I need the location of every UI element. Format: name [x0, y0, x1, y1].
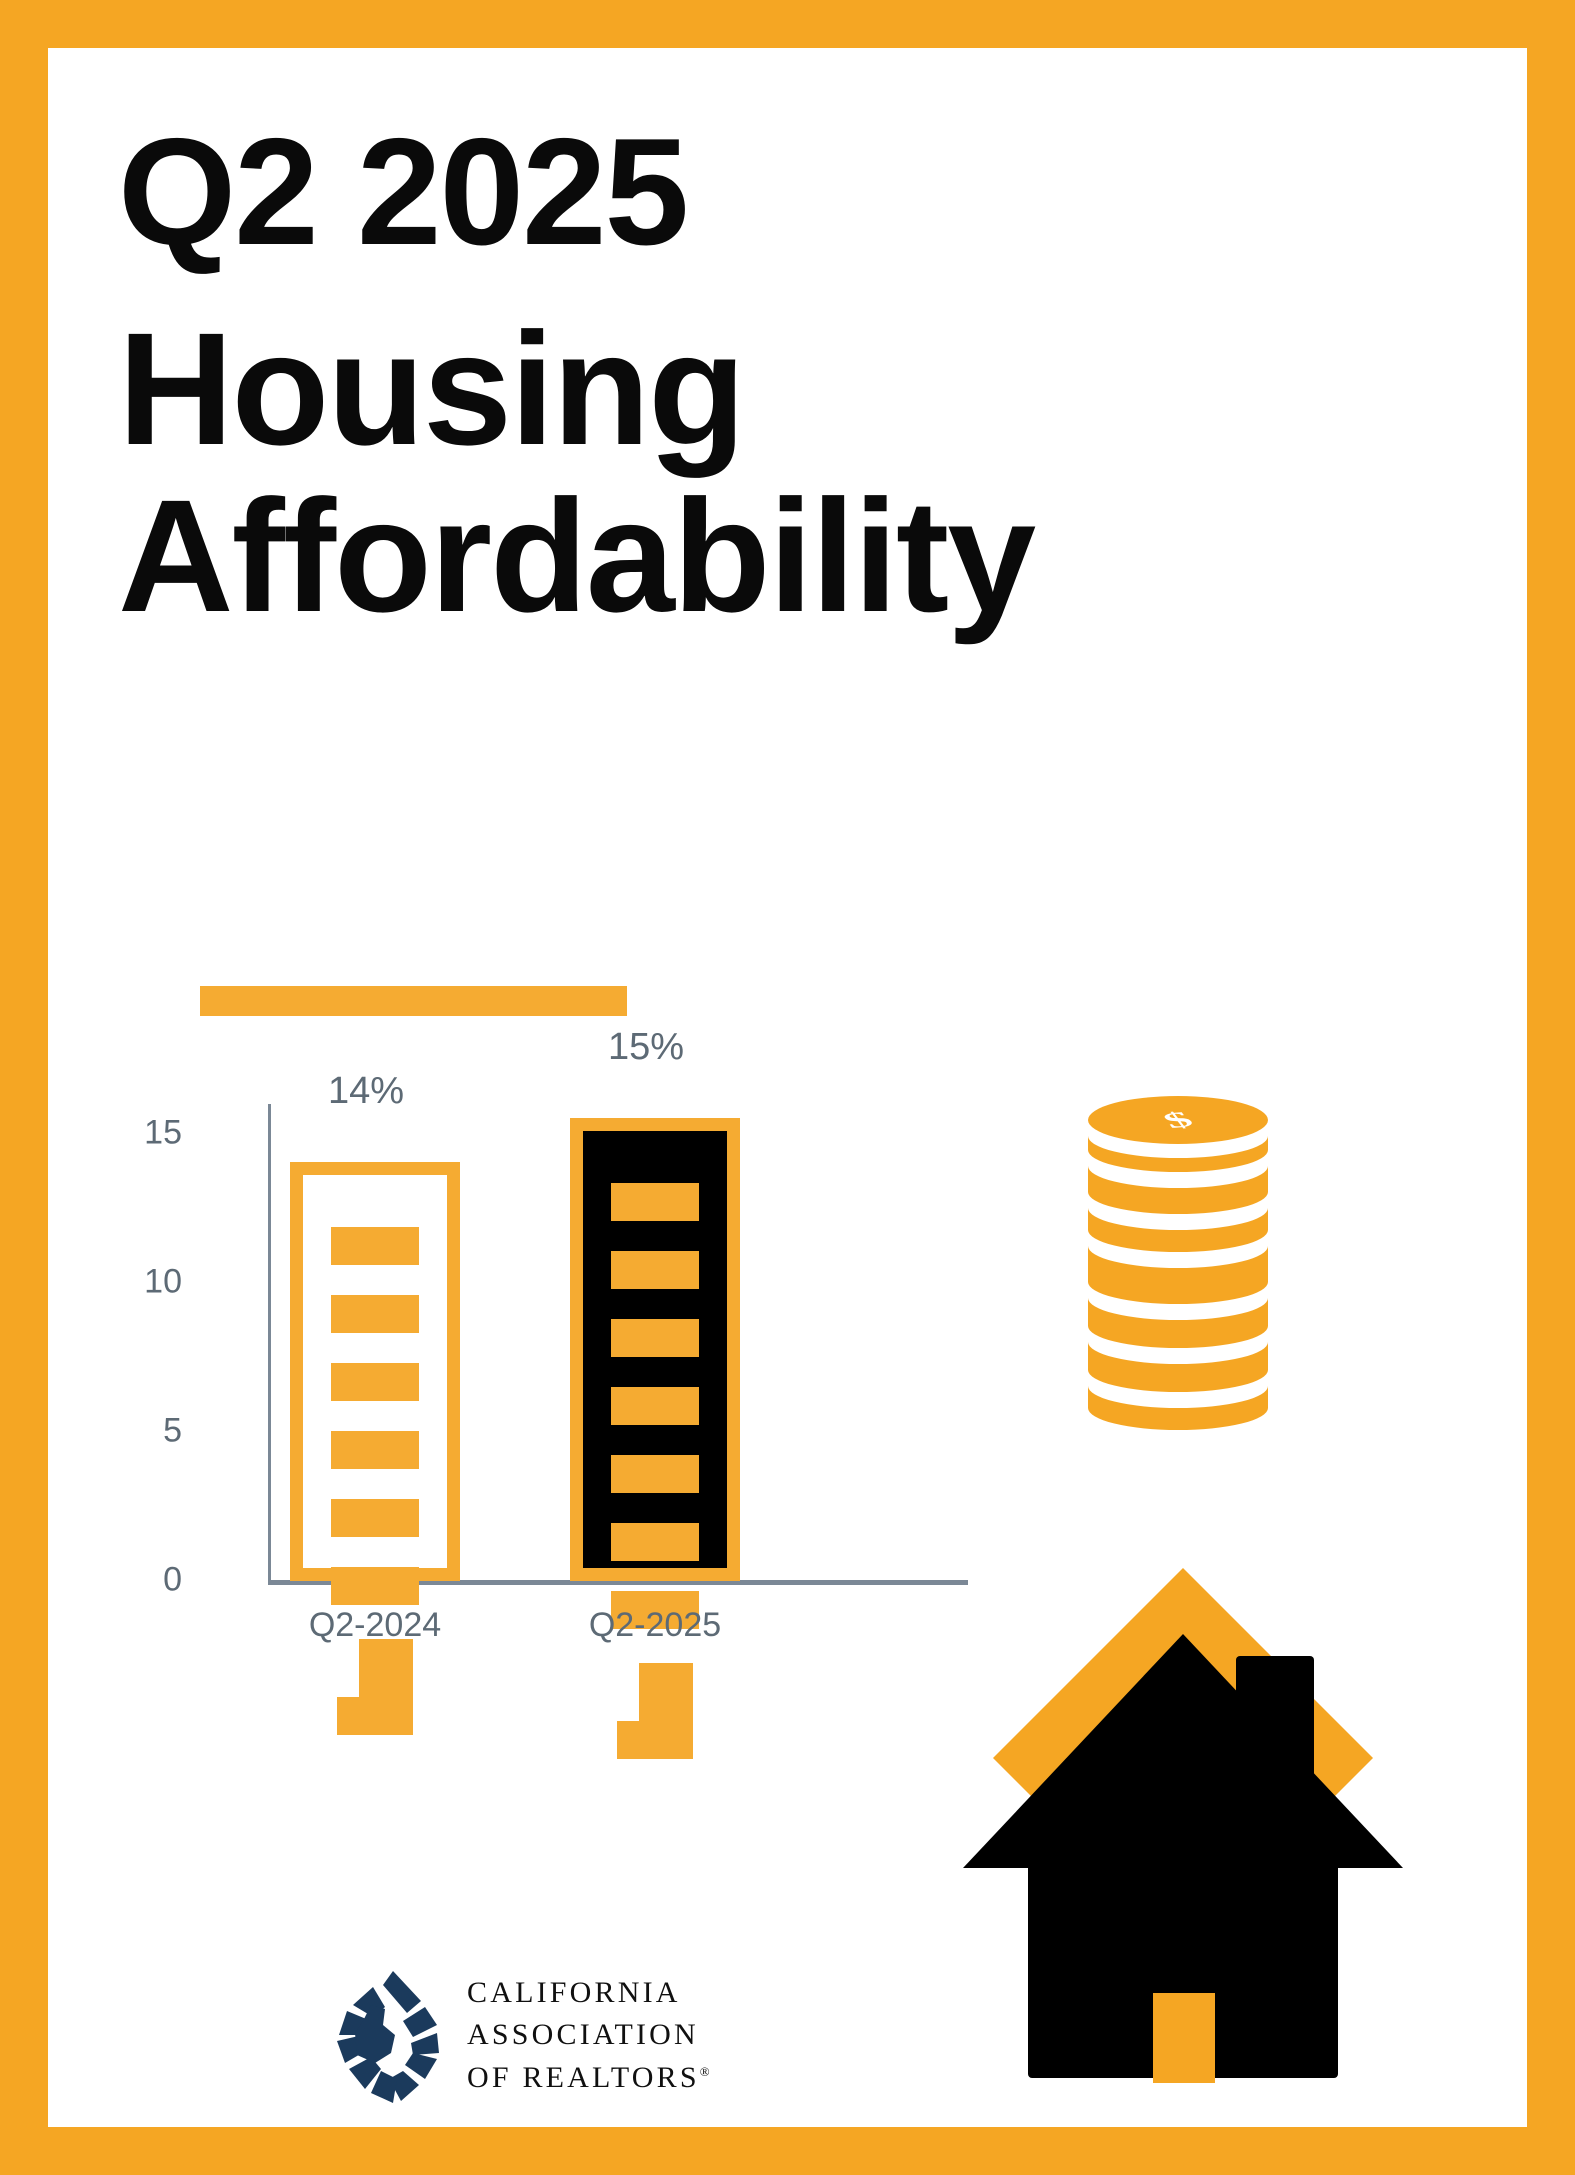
window-cell [640, 1387, 669, 1425]
bar-q2-2024[interactable] [290, 1162, 460, 1581]
poster-root: Q2 2025 Housing Affordability 0 5 10 15 … [0, 0, 1575, 2175]
bar-value-label-2025: 15% [526, 1026, 766, 1069]
window-cell [360, 1567, 389, 1605]
logo-line-california: CALIFORNIA [467, 1972, 713, 2015]
window-cell [331, 1295, 360, 1333]
window-cell [390, 1499, 419, 1537]
window-cell [611, 1455, 640, 1493]
bar-value-label-2024: 14% [246, 1070, 486, 1113]
window-cell [390, 1295, 419, 1333]
page-title: Q2 2025 Housing Affordability [118, 118, 1418, 635]
y-tick-10: 10 [122, 1263, 182, 1302]
window-cell [640, 1523, 669, 1561]
window-cell [670, 1319, 699, 1357]
building-door [359, 1639, 413, 1735]
car-logo-text: CALIFORNIA ASSOCIATION OF REALTORS® [467, 1972, 713, 2100]
window-row [331, 1431, 419, 1469]
window-row [611, 1523, 699, 1561]
window-row [331, 1499, 419, 1537]
window-cell [640, 1455, 669, 1493]
car-logo: CALIFORNIA ASSOCIATION OF REALTORS® [333, 1948, 723, 2123]
coin-stack-icon: $ [1078, 1078, 1278, 1458]
window-cell [670, 1251, 699, 1289]
building-base-row-2024 [331, 1639, 419, 1735]
chart-y-axis [268, 1104, 271, 1582]
window-cell [640, 1319, 669, 1357]
window-cell [360, 1431, 389, 1469]
window-cell [611, 1523, 640, 1561]
window-row [331, 1227, 419, 1265]
window-cell [670, 1523, 699, 1561]
logo-of-realtors-text: OF REALTORS [467, 2061, 700, 2094]
window-cell [331, 1567, 360, 1605]
window-row [611, 1251, 699, 1289]
window-row [611, 1387, 699, 1425]
window-cell [337, 1697, 359, 1735]
window-cell [390, 1227, 419, 1265]
window-cell [331, 1363, 360, 1401]
window-cell [611, 1183, 640, 1221]
x-tick-q2-2024: Q2-2024 [245, 1606, 505, 1645]
x-tick-q2-2025: Q2-2025 [525, 1606, 785, 1645]
bar-q2-2025[interactable] [570, 1118, 740, 1581]
window-row [331, 1363, 419, 1401]
window-cell [640, 1183, 669, 1221]
window-cell [390, 1567, 419, 1605]
window-cell [360, 1295, 389, 1333]
window-row [331, 1567, 419, 1605]
window-cell [331, 1431, 360, 1469]
logo-line-of-realtors: OF REALTORS® [467, 2057, 713, 2100]
window-cell [390, 1431, 419, 1469]
y-tick-0: 0 [122, 1561, 182, 1600]
window-row [611, 1455, 699, 1493]
poster-inner-panel: Q2 2025 Housing Affordability 0 5 10 15 … [48, 48, 1527, 2127]
affordability-bar-chart: 0 5 10 15 14% [118, 1078, 948, 1468]
window-cell [611, 1251, 640, 1289]
window-row [611, 1319, 699, 1357]
y-tick-5: 5 [122, 1412, 182, 1451]
logo-line-association: ASSOCIATION [467, 2014, 713, 2057]
house-door [1153, 1993, 1215, 2083]
window-cell [360, 1227, 389, 1265]
window-cell [331, 1227, 360, 1265]
window-cell [611, 1319, 640, 1357]
building-door [639, 1663, 693, 1759]
window-cell [390, 1363, 419, 1401]
y-tick-15: 15 [122, 1114, 182, 1153]
window-cell [331, 1499, 360, 1537]
window-cell [611, 1387, 640, 1425]
building-base-row-2025 [611, 1663, 699, 1759]
title-line-affordability: Affordability [118, 478, 1418, 635]
title-underline-rule [200, 986, 627, 1016]
window-cell [670, 1455, 699, 1493]
window-row [611, 1183, 699, 1221]
title-line-housing: Housing [118, 311, 1418, 468]
house-icon [948, 1538, 1418, 2098]
window-cell [360, 1363, 389, 1401]
title-line-quarter: Q2 2025 [118, 118, 1418, 267]
window-cell [617, 1721, 639, 1759]
car-logo-mark [333, 1967, 441, 2105]
window-cell [670, 1387, 699, 1425]
window-cell [670, 1183, 699, 1221]
building-windows-2024 [303, 1175, 447, 1568]
window-row [331, 1295, 419, 1333]
window-cell [360, 1499, 389, 1537]
registered-mark: ® [700, 2064, 713, 2079]
building-windows-2025 [583, 1131, 727, 1568]
window-cell [640, 1251, 669, 1289]
